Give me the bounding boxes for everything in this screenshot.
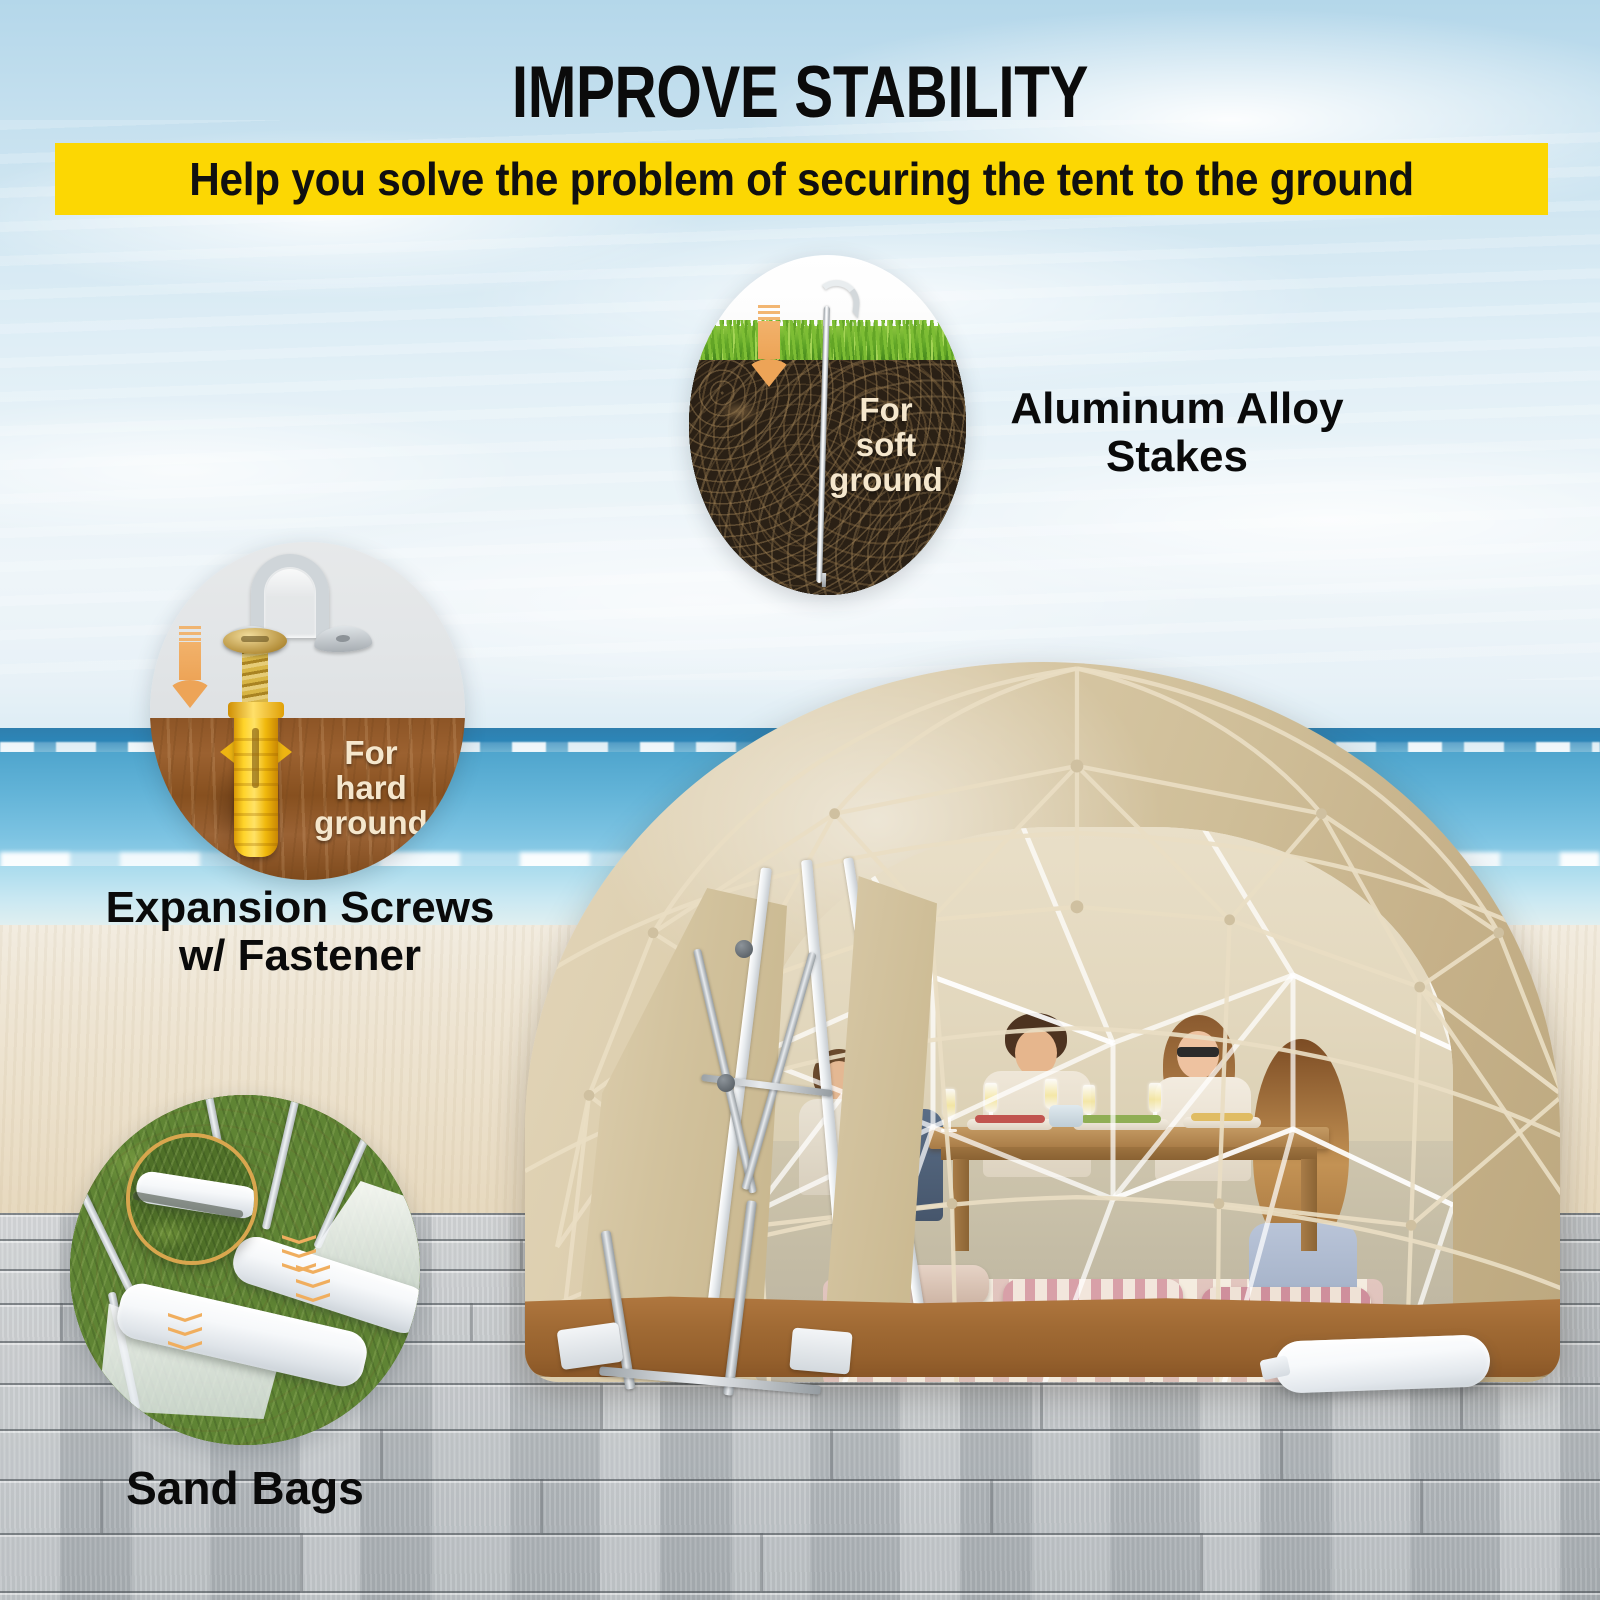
anchor-collar — [228, 702, 284, 718]
frame-hub — [735, 940, 753, 958]
chevron-arrows-icon — [168, 1313, 202, 1353]
hard-ground-caption: For hard ground — [278, 736, 464, 841]
screw-thread — [242, 647, 268, 709]
label-line-2: w/ Fastener — [40, 932, 560, 980]
caption-line-1: For — [278, 736, 464, 771]
deck-board-seam — [1280, 1429, 1283, 1479]
soft-ground-caption: For soft ground — [801, 393, 966, 498]
caption-line-1: For — [801, 393, 966, 428]
label-line-1: Expansion Screws — [40, 884, 560, 932]
screw-head — [223, 628, 287, 654]
deck-board-seam — [830, 1429, 833, 1479]
chevron-arrows-icon — [296, 1265, 330, 1305]
soft-ground-inset: For soft ground — [689, 255, 966, 595]
deck-board-seam — [540, 1479, 543, 1533]
caption-line-2: soft ground — [801, 428, 966, 498]
dome-tent — [495, 640, 1600, 1420]
label-line-2: Stakes — [962, 433, 1392, 481]
hard-ground-inset: For hard ground — [150, 542, 465, 880]
deck-board-seam — [60, 1303, 63, 1341]
hook-arc — [251, 554, 329, 638]
product-feature-graphic: IMPROVE STABILITY Help you solve the pro… — [0, 0, 1600, 1600]
label-line-1: Sand Bags — [75, 1464, 415, 1514]
label-line-1: Aluminum Alloy — [962, 385, 1392, 433]
label-expansion-screws: Expansion Screws w/ Fastener — [40, 884, 560, 979]
deck-board-seam — [760, 1533, 763, 1591]
door-foot-patch — [557, 1322, 624, 1370]
deck-board-seam — [470, 1303, 473, 1341]
stake-hook — [812, 278, 862, 319]
stake-tip — [822, 573, 826, 587]
sand-bags-inset — [70, 1095, 420, 1445]
caption-line-2: hard ground — [278, 771, 464, 841]
subtitle-text: Help you solve the problem of securing t… — [189, 152, 1414, 206]
page-title: IMPROVE STABILITY — [160, 56, 1440, 129]
frame-hub — [717, 1074, 735, 1092]
label-aluminum-alloy-stakes: Aluminum Alloy Stakes — [962, 385, 1392, 480]
magnifier-circle-icon — [126, 1133, 258, 1265]
label-sand-bags: Sand Bags — [75, 1464, 415, 1514]
anchor-ribs — [234, 738, 278, 856]
deck-board-seam — [1420, 1479, 1423, 1533]
subtitle-banner: Help you solve the problem of securing t… — [55, 143, 1548, 215]
deck-board-seam — [300, 1533, 303, 1591]
deck-board-seam — [990, 1479, 993, 1533]
deck-board-seam — [1200, 1533, 1203, 1591]
sand-bag-on-deck — [1274, 1334, 1491, 1393]
door-foot-patch — [789, 1327, 852, 1374]
dome-canopy — [525, 662, 1560, 1382]
